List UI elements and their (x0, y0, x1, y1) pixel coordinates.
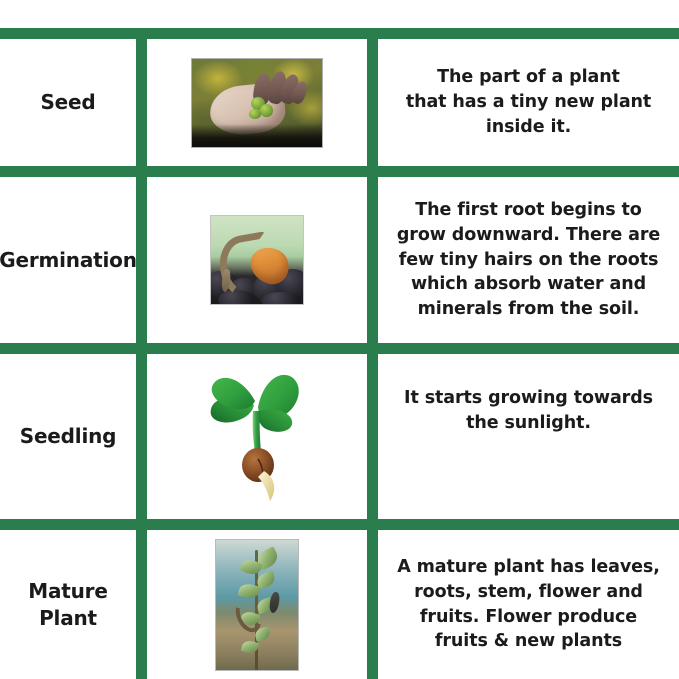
image-cell-germination (147, 177, 367, 343)
table-border-top (0, 28, 679, 39)
description-cell-mature-plant: A mature plant has leaves, roots, stem, … (378, 530, 679, 679)
stage-label: Mature Plant (20, 578, 116, 631)
description-text: It starts growing towards the sunlight. (396, 386, 661, 436)
stage-label: Germination (0, 247, 137, 273)
mature-plant-photo (215, 539, 299, 671)
root-shape (258, 471, 274, 501)
plant-life-cycle-table: Seed The part of a plant that has a tiny… (0, 0, 679, 679)
seed-in-hand-photo (191, 58, 323, 148)
stage-cell-seedling: Seedling (0, 354, 136, 519)
stage-label: Seed (40, 89, 95, 115)
image-cell-mature-plant (147, 530, 367, 679)
stage-cell-mature-plant: Mature Plant (0, 530, 136, 679)
column-separator-2 (367, 28, 378, 679)
row-separator-2 (0, 343, 679, 354)
description-cell-seedling: It starts growing towards the sunlight. (378, 354, 679, 519)
green-seed-shape (260, 104, 273, 116)
seedling-svg (198, 367, 316, 507)
image-cell-seedling (147, 354, 367, 519)
row-separator-1 (0, 166, 679, 177)
description-text: A mature plant has leaves, roots, stem, … (396, 555, 661, 654)
description-cell-germination: The first root begins to grow downward. … (378, 177, 679, 343)
photo-shadow-overlay (192, 124, 322, 147)
description-text: The part of a plant that has a tiny new … (406, 65, 651, 140)
stage-cell-germination: Germination (0, 177, 136, 343)
column-separator-1 (136, 28, 147, 679)
description-text: The first root begins to grow downward. … (392, 198, 665, 322)
image-cell-seed (147, 39, 367, 166)
green-seed-shape (249, 109, 261, 120)
seedling-clipart (198, 367, 316, 507)
stage-cell-seed: Seed (0, 39, 136, 166)
germinating-seed-photo (210, 215, 304, 305)
description-cell-seed: The part of a plant that has a tiny new … (378, 39, 679, 166)
plant-bud-shape (268, 591, 280, 613)
stage-label: Seedling (20, 423, 117, 449)
row-separator-3 (0, 519, 679, 530)
